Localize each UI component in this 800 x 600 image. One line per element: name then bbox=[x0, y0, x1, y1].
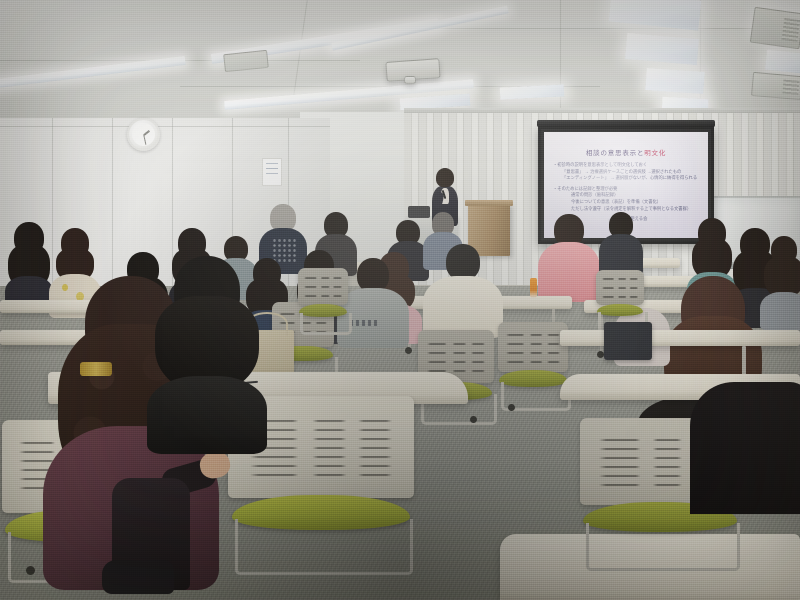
chair bbox=[498, 322, 568, 408]
chair bbox=[298, 268, 348, 332]
ac-vent-icon bbox=[751, 72, 800, 100]
torso bbox=[538, 242, 600, 302]
sweatshirt-lettering bbox=[350, 320, 380, 326]
ceiling-light-panel bbox=[625, 33, 699, 65]
slide-title: 相談の意思表示と明文化 bbox=[544, 147, 708, 157]
ceiling-light-panel bbox=[500, 84, 565, 99]
wall-notice bbox=[262, 158, 282, 186]
head bbox=[446, 244, 480, 280]
wall-clock-icon bbox=[127, 118, 160, 151]
hair-clip bbox=[80, 362, 112, 376]
desk-row-front bbox=[560, 330, 800, 346]
orange-drink-bottle bbox=[530, 278, 537, 298]
ceiling-light-panel bbox=[765, 50, 800, 75]
slide-line: ・初診時の説明を意思表示として明文化しておく bbox=[553, 162, 702, 169]
head bbox=[357, 258, 389, 292]
ac-vent-icon bbox=[223, 50, 269, 73]
torso bbox=[423, 276, 503, 338]
slide-line: 今後についての意思（表記）を準備（文書化） bbox=[553, 199, 702, 206]
seminar-room-photo: 相談の意思表示と明文化 ・初診時の説明を意思表示として明文化しておく 「意思書」… bbox=[0, 0, 800, 600]
ceiling-light-panel bbox=[645, 68, 704, 94]
audience-member bbox=[600, 212, 642, 274]
audience-member-black-bob bbox=[142, 256, 272, 446]
projector-mount bbox=[404, 76, 416, 84]
torso bbox=[147, 376, 267, 454]
shoe bbox=[102, 560, 174, 594]
ac-vent-icon bbox=[750, 7, 800, 50]
slide-line: 通常の問診（歯科記録） bbox=[553, 192, 702, 199]
ceiling-light-panel bbox=[609, 0, 702, 31]
presenter-hair bbox=[436, 168, 454, 187]
slide-line: 「エンディングノート」 → 選択肢がないが、心情的に納得を得られる bbox=[553, 175, 702, 182]
audience-member-white-shirt bbox=[426, 244, 500, 330]
dark-shoulder-bag bbox=[604, 322, 652, 360]
blinds-rail bbox=[404, 108, 800, 113]
audience-member-pink-shirt bbox=[540, 214, 598, 300]
chair bbox=[596, 270, 644, 330]
audience-member-right-dark bbox=[690, 382, 800, 514]
